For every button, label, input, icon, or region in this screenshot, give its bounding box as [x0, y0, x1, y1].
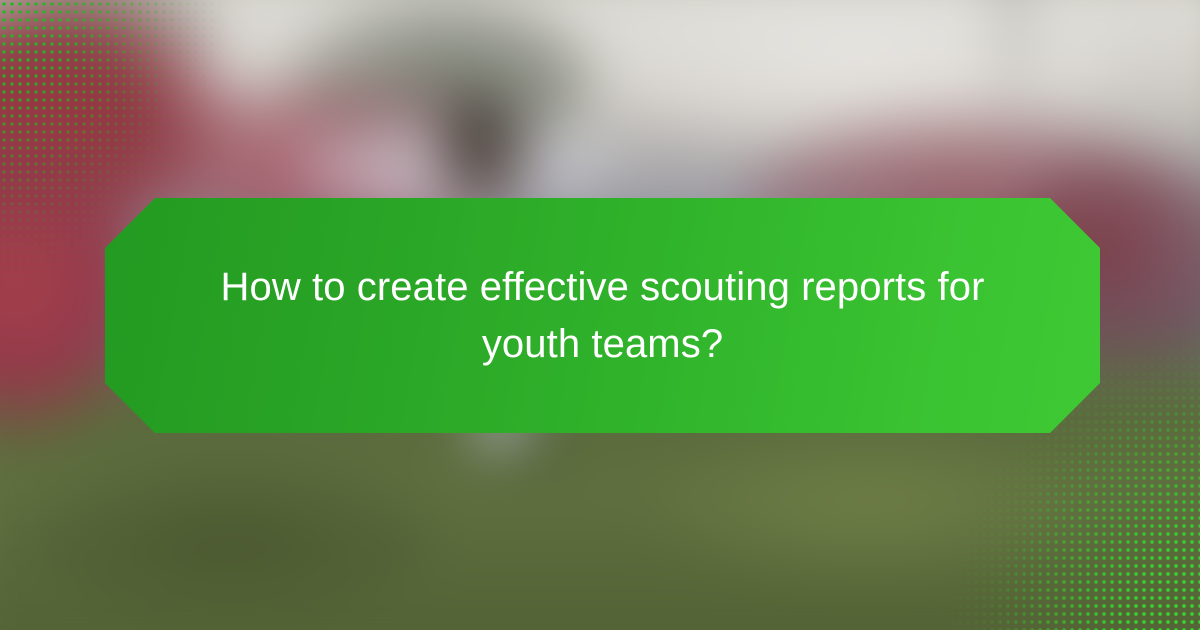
social-share-card: How to create effective scouting reports… [0, 0, 1200, 630]
floodlight-pole-blob [1000, 0, 1026, 120]
page-title: How to create effective scouting reports… [218, 259, 988, 373]
grass-highlight-blob [660, 430, 1080, 580]
grass-shadow-blob [20, 460, 440, 610]
player-silhouette-blob [440, 100, 510, 190]
title-banner: How to create effective scouting reports… [105, 198, 1100, 433]
